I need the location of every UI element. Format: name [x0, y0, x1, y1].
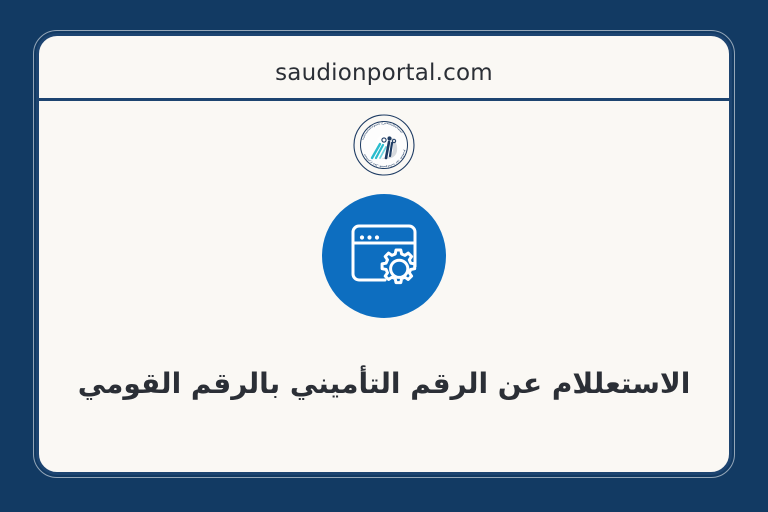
feature-icon-circle — [322, 194, 446, 318]
content-card: saudionportal.com اسساسللمكاءنبرخ دلسوعا… — [36, 33, 732, 475]
browser-window-top — [353, 226, 415, 266]
page-heading: الاستعللام عن الرقم التأميني بالرقم القو… — [67, 365, 701, 403]
gear-inner-circle — [391, 260, 408, 277]
organization-seal-logo: اسساسللمكاءنبرخ دلسوعاتلملسحلسا جمعاتلرم… — [353, 114, 415, 176]
screenshot-root: saudionportal.com اسساسللمكاءنبرخ دلسوعا… — [0, 0, 768, 512]
browser-titlebar-dots — [360, 235, 379, 239]
site-title: saudionportal.com — [39, 60, 729, 86]
header-divider — [39, 98, 729, 101]
